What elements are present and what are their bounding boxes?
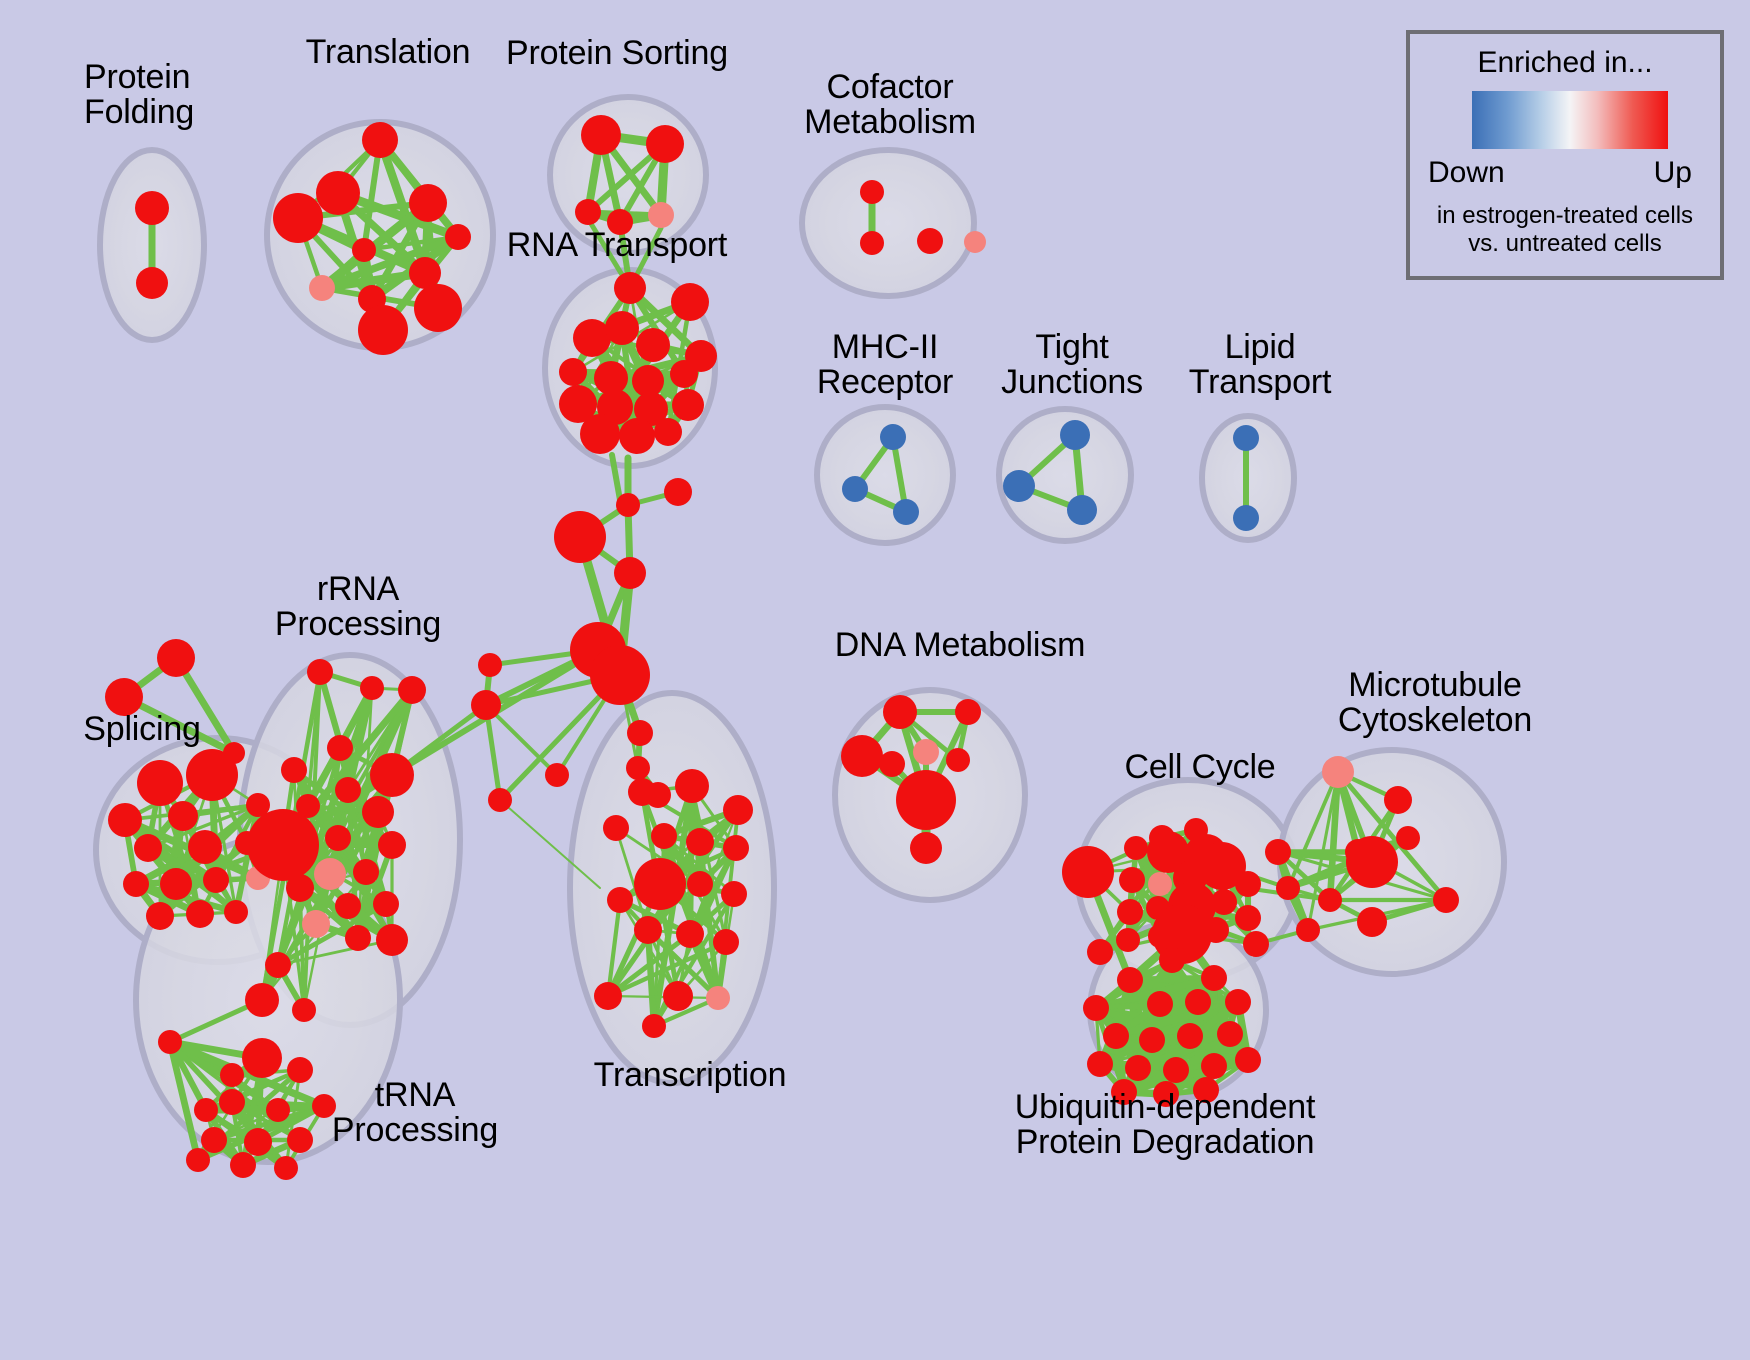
network-node[interactable] — [721, 881, 747, 907]
network-node[interactable] — [581, 115, 621, 155]
network-node[interactable] — [664, 478, 692, 506]
network-node[interactable] — [108, 803, 142, 837]
network-node[interactable] — [1111, 1079, 1137, 1105]
network-node[interactable] — [1125, 1055, 1151, 1081]
network-node[interactable] — [1124, 836, 1148, 860]
network-node[interactable] — [1060, 420, 1090, 450]
network-node[interactable] — [488, 788, 512, 812]
network-node[interactable] — [398, 676, 426, 704]
network-node[interactable] — [723, 795, 753, 825]
network-node[interactable] — [713, 929, 739, 955]
network-node[interactable] — [627, 720, 653, 746]
network-node[interactable] — [648, 202, 674, 228]
network-node[interactable] — [607, 887, 633, 913]
network-node[interactable] — [1177, 1023, 1203, 1049]
network-node[interactable] — [312, 1094, 336, 1118]
network-node[interactable] — [1235, 905, 1261, 931]
network-node[interactable] — [201, 1127, 227, 1153]
network-node[interactable] — [135, 191, 169, 225]
network-node[interactable] — [314, 858, 346, 890]
network-node[interactable] — [376, 924, 408, 956]
network-node[interactable] — [186, 900, 214, 928]
legend-high-label: Up — [1654, 156, 1692, 190]
network-node[interactable] — [642, 1014, 666, 1038]
network-node[interactable] — [157, 639, 195, 677]
network-node[interactable] — [614, 557, 646, 589]
network-node[interactable] — [860, 180, 884, 204]
network-node[interactable] — [883, 695, 917, 729]
network-node[interactable] — [168, 801, 198, 831]
network-node[interactable] — [146, 902, 174, 930]
network-node[interactable] — [281, 757, 307, 783]
network-node[interactable] — [580, 414, 620, 454]
network-node[interactable] — [1235, 1047, 1261, 1073]
legend-color-bar — [1472, 91, 1668, 149]
network-node[interactable] — [1117, 967, 1143, 993]
network-node[interactable] — [1087, 939, 1113, 965]
network-node[interactable] — [445, 224, 471, 250]
network-node[interactable] — [220, 1063, 244, 1087]
network-node[interactable] — [545, 763, 569, 787]
network-node[interactable] — [607, 209, 633, 235]
network-node[interactable] — [414, 284, 462, 332]
network-node[interactable] — [242, 1038, 282, 1078]
network-node[interactable] — [946, 748, 970, 772]
network-node[interactable] — [1083, 995, 1109, 1021]
network-node[interactable] — [409, 184, 447, 222]
network-node[interactable] — [327, 735, 353, 761]
network-node[interactable] — [219, 1089, 245, 1115]
network-node[interactable] — [1433, 887, 1459, 913]
network-node[interactable] — [1193, 1077, 1219, 1103]
network-node[interactable] — [676, 920, 704, 948]
network-node[interactable] — [879, 751, 905, 777]
network-node[interactable] — [136, 267, 168, 299]
legend-box: Enriched in... Down Up in estrogen-treat… — [1406, 30, 1724, 280]
network-figure: Protein FoldingTranslationProtein Sortin… — [0, 0, 1750, 1360]
network-node[interactable] — [316, 171, 360, 215]
network-node[interactable] — [1201, 965, 1227, 991]
network-node[interactable] — [247, 809, 319, 881]
network-node[interactable] — [723, 835, 749, 861]
network-node[interactable] — [273, 193, 323, 243]
network-node[interactable] — [373, 891, 399, 917]
network-node[interactable] — [1139, 1027, 1165, 1053]
network-node[interactable] — [614, 272, 646, 304]
network-node[interactable] — [1062, 846, 1114, 898]
network-node[interactable] — [1211, 889, 1237, 915]
network-node[interactable] — [471, 690, 501, 720]
network-node[interactable] — [880, 424, 906, 450]
network-node[interactable] — [634, 916, 662, 944]
network-node[interactable] — [1185, 989, 1211, 1015]
network-node[interactable] — [345, 925, 371, 951]
network-node[interactable] — [186, 749, 238, 801]
network-node[interactable] — [244, 1128, 272, 1156]
network-node[interactable] — [1296, 918, 1320, 942]
network-node[interactable] — [353, 859, 379, 885]
network-node[interactable] — [266, 1098, 290, 1122]
network-node[interactable] — [1217, 1021, 1243, 1047]
network-node[interactable] — [1396, 826, 1420, 850]
network-node[interactable] — [605, 311, 639, 345]
network-node[interactable] — [1003, 470, 1035, 502]
network-node[interactable] — [841, 735, 883, 777]
network-node[interactable] — [626, 756, 650, 780]
network-node[interactable] — [245, 983, 279, 1017]
network-node[interactable] — [651, 823, 677, 849]
network-node[interactable] — [1233, 505, 1259, 531]
network-node[interactable] — [1119, 867, 1145, 893]
network-node[interactable] — [1243, 931, 1269, 957]
network-node[interactable] — [632, 365, 664, 397]
network-node[interactable] — [616, 493, 640, 517]
network-node[interactable] — [265, 952, 291, 978]
legend-low-label: Down — [1428, 156, 1505, 190]
network-node[interactable] — [1116, 928, 1140, 952]
network-node[interactable] — [287, 1057, 313, 1083]
network-node[interactable] — [645, 782, 671, 808]
network-node[interactable] — [955, 699, 981, 725]
network-node[interactable] — [686, 828, 714, 856]
network-node[interactable] — [123, 871, 149, 897]
network-node[interactable] — [590, 645, 650, 705]
network-node[interactable] — [619, 418, 655, 454]
network-node[interactable] — [186, 1148, 210, 1172]
network-node[interactable] — [335, 893, 361, 919]
network-node[interactable] — [1318, 888, 1342, 912]
network-node[interactable] — [672, 389, 704, 421]
network-node[interactable] — [158, 1030, 182, 1054]
network-node[interactable] — [573, 319, 611, 357]
network-node[interactable] — [663, 981, 693, 1011]
network-node[interactable] — [913, 739, 939, 765]
network-node[interactable] — [910, 832, 942, 864]
network-node[interactable] — [893, 499, 919, 525]
network-node[interactable] — [1159, 947, 1185, 973]
network-node[interactable] — [559, 358, 587, 386]
network-node[interactable] — [370, 753, 414, 797]
network-node[interactable] — [964, 231, 986, 253]
network-node[interactable] — [1201, 1053, 1227, 1079]
network-node[interactable] — [378, 831, 406, 859]
network-node[interactable] — [1346, 836, 1398, 888]
network-node[interactable] — [302, 910, 330, 938]
network-node[interactable] — [325, 825, 351, 851]
network-node[interactable] — [292, 998, 316, 1022]
cluster-ellipse-cofactor-metabolism[interactable] — [802, 150, 974, 296]
network-node[interactable] — [188, 830, 222, 864]
network-node[interactable] — [1235, 871, 1261, 897]
network-node[interactable] — [1203, 917, 1229, 943]
network-node[interactable] — [287, 1127, 313, 1153]
network-node[interactable] — [1067, 495, 1097, 525]
network-node[interactable] — [1103, 1023, 1129, 1049]
network-node[interactable] — [362, 122, 398, 158]
network-node[interactable] — [307, 659, 333, 685]
network-node[interactable] — [1322, 756, 1354, 788]
network-node[interactable] — [594, 982, 622, 1010]
network-node[interactable] — [842, 476, 868, 502]
network-node[interactable] — [636, 328, 670, 362]
network-node[interactable] — [224, 900, 248, 924]
network-node[interactable] — [203, 867, 229, 893]
network-node[interactable] — [554, 511, 606, 563]
network-node[interactable] — [1087, 1051, 1113, 1077]
network-node[interactable] — [286, 874, 314, 902]
network-node[interactable] — [675, 769, 709, 803]
network-node[interactable] — [1225, 989, 1251, 1015]
network-node[interactable] — [358, 305, 408, 355]
legend-title: Enriched in... — [1410, 46, 1720, 80]
network-node[interactable] — [335, 777, 361, 803]
network-node[interactable] — [1147, 991, 1173, 1017]
network-node[interactable] — [274, 1156, 298, 1180]
network-node[interactable] — [670, 360, 698, 388]
network-node[interactable] — [634, 858, 686, 910]
network-node[interactable] — [646, 125, 684, 163]
legend-caption: in estrogen-treated cells vs. untreated … — [1410, 202, 1720, 259]
network-node[interactable] — [896, 770, 956, 830]
network-node[interactable] — [917, 228, 943, 254]
network-node[interactable] — [1276, 876, 1300, 900]
network-node[interactable] — [687, 871, 713, 897]
network-node[interactable] — [860, 231, 884, 255]
network-node[interactable] — [1163, 1057, 1189, 1083]
network-node[interactable] — [1153, 1081, 1179, 1107]
network-node[interactable] — [160, 868, 192, 900]
network-node[interactable] — [194, 1098, 218, 1122]
network-node[interactable] — [1233, 425, 1259, 451]
network-node[interactable] — [362, 796, 394, 828]
network-node[interactable] — [603, 815, 629, 841]
network-node[interactable] — [671, 283, 709, 321]
network-node[interactable] — [575, 199, 601, 225]
network-node[interactable] — [105, 678, 143, 716]
network-node[interactable] — [1384, 786, 1412, 814]
network-node[interactable] — [309, 275, 335, 301]
network-node[interactable] — [706, 986, 730, 1010]
network-node[interactable] — [1148, 872, 1172, 896]
network-node[interactable] — [230, 1152, 256, 1178]
network-node[interactable] — [360, 676, 384, 700]
network-node[interactable] — [478, 653, 502, 677]
network-node[interactable] — [1357, 907, 1387, 937]
network-node[interactable] — [134, 834, 162, 862]
network-node[interactable] — [352, 238, 376, 262]
network-node[interactable] — [1265, 839, 1291, 865]
network-node[interactable] — [654, 418, 682, 446]
network-node[interactable] — [1117, 899, 1143, 925]
network-node[interactable] — [137, 760, 183, 806]
